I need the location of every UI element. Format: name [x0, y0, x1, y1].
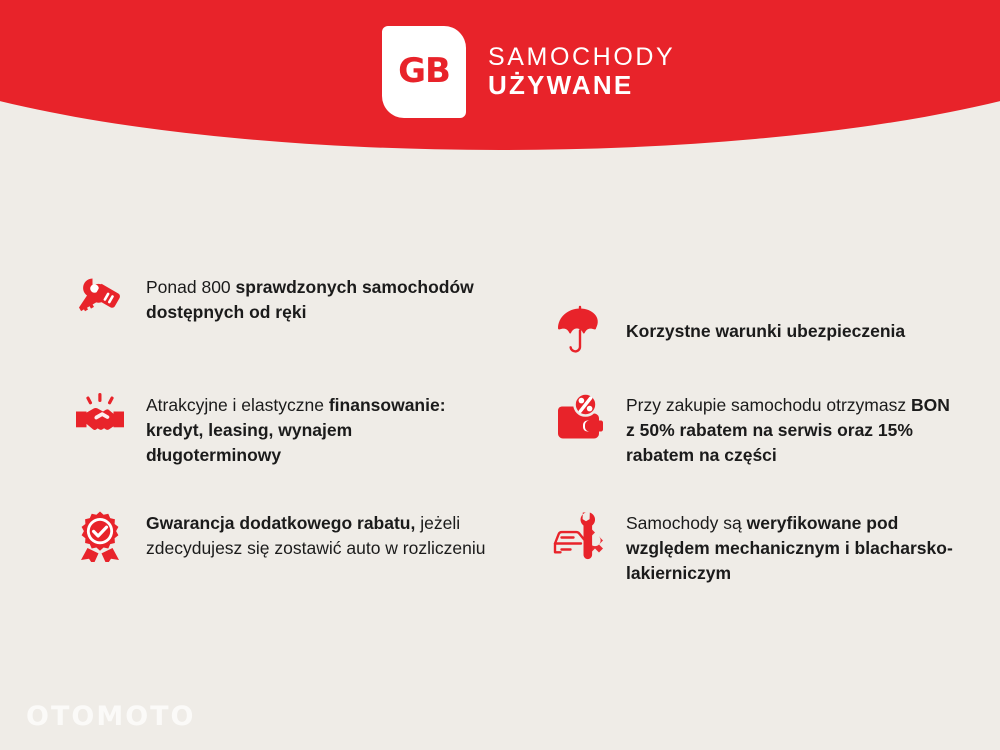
brand-wordmark-line1: SAMOCHODY: [488, 45, 675, 71]
award-rosette-icon: [72, 508, 128, 566]
feature-item-inventory: Ponad 800 sprawdzonych samochodów dostęp…: [72, 272, 542, 390]
feature-item-text: Ponad 800 sprawdzonych samochodów dostęp…: [146, 272, 486, 325]
feature-text-part-regular: Przy zakupie samochodu otrzymasz: [626, 395, 911, 415]
feature-text-part-bold: Gwarancja dodatkowego rabatu,: [146, 513, 415, 533]
brand-wordmark-line2: UŻYWANE: [488, 72, 675, 99]
feature-column-right: Korzystne warunki ubezpieczenia: [552, 272, 1000, 626]
umbrella-icon: [552, 302, 608, 360]
handshake-icon: [72, 390, 128, 448]
feature-text-part-regular: Ponad 800: [146, 277, 236, 297]
gb-logo-mark: GB: [382, 26, 466, 118]
key-tag-icon: [72, 272, 128, 330]
feature-item-text: Gwarancja dodatkowego rabatu, jeżeli zde…: [146, 508, 486, 561]
wallet-percent-icon: [552, 390, 608, 448]
feature-item-text: Atrakcyjne i elastyczne finansowanie: kr…: [146, 390, 486, 468]
brand-logo-lockup[interactable]: GB SAMOCHODY UŻYWANE: [382, 26, 675, 118]
otomoto-watermark: OTOMOTO: [26, 701, 196, 732]
feature-item-text: Samochody są weryfikowane pod względem m…: [626, 508, 956, 586]
gb-logo-letters: GB: [398, 54, 450, 88]
feature-text-part-bold: Korzystne warunki ubezpieczenia: [626, 321, 905, 341]
feature-text-part-regular: Atrakcyjne i elastyczne: [146, 395, 329, 415]
feature-item-text: Przy zakupie samochodu otrzymasz BON z 5…: [626, 390, 956, 468]
feature-text-part-regular: Samochody są: [626, 513, 747, 533]
feature-list: Ponad 800 sprawdzonych samochodów dostęp…: [0, 272, 1000, 626]
feature-item-trade-in-discount: Gwarancja dodatkowego rabatu, jeżeli zde…: [72, 508, 542, 626]
brand-wordmark: SAMOCHODY UŻYWANE: [488, 45, 675, 99]
feature-item-service-voucher: Przy zakupie samochodu otrzymasz BON z 5…: [552, 390, 1000, 508]
feature-item-insurance: Korzystne warunki ubezpieczenia: [552, 272, 1000, 390]
feature-item-text: Korzystne warunki ubezpieczenia: [626, 319, 905, 344]
feature-item-financing: Atrakcyjne i elastyczne finansowanie: kr…: [72, 390, 542, 508]
car-wrench-gear-icon: [552, 508, 608, 566]
feature-item-inspection: Samochody są weryfikowane pod względem m…: [552, 508, 1000, 626]
feature-column-left: Ponad 800 sprawdzonych samochodów dostęp…: [72, 272, 542, 626]
